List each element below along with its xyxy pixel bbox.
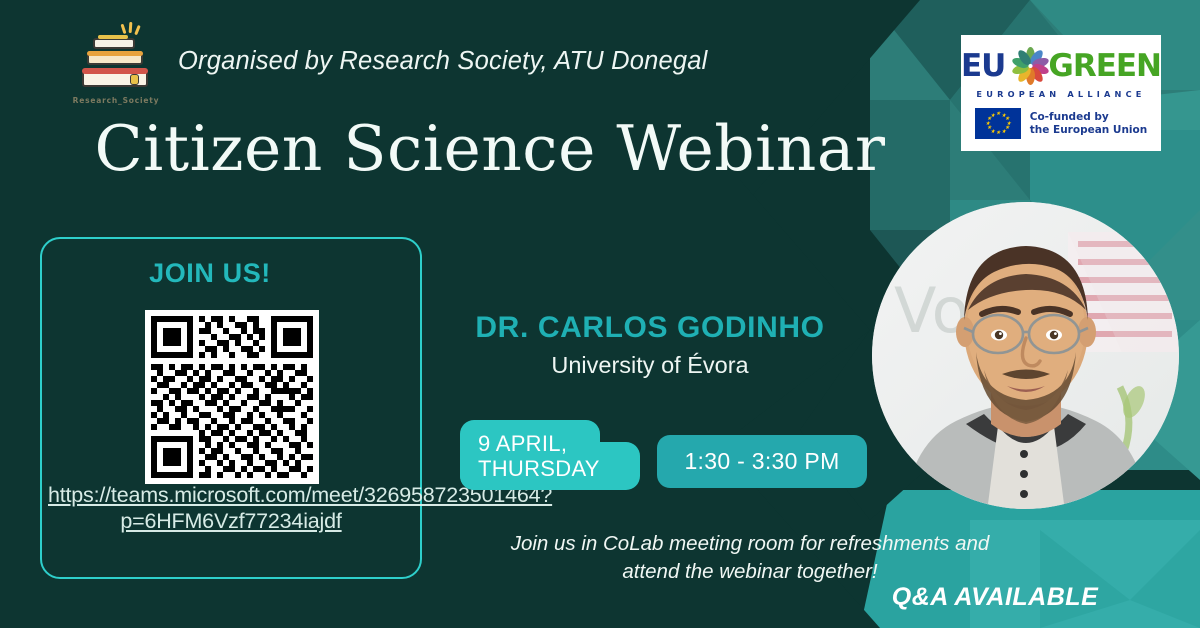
- footer-note-line1: Join us in CoLab meeting room for refres…: [511, 532, 990, 555]
- qa-available-label: Q&A AVAILABLE: [830, 583, 1160, 612]
- portrait-illustration: Vo: [872, 202, 1179, 509]
- header: Research_Society Organised by Research S…: [70, 22, 708, 114]
- eu-flag-icon: ★ ★ ★ ★ ★ ★ ★ ★ ★ ★ ★ ★: [975, 108, 1021, 139]
- footer-note: Join us in CoLab meeting room for refres…: [430, 530, 1070, 586]
- eu-green-logo: EU GREEN EUROPEAN ALLIANCE ★ ★ ★ ★: [961, 35, 1161, 151]
- co-funded-text: Co-funded by the European Union: [1030, 111, 1147, 136]
- page-title: Citizen Science Webinar: [0, 112, 980, 185]
- footer-note-line2: attend the webinar together!: [622, 560, 877, 583]
- leaf-flower-icon: [1007, 44, 1046, 88]
- logo-caption: Research_Society: [70, 96, 162, 105]
- co-funded-line1: Co-funded by: [1030, 111, 1109, 123]
- eu-text: EU: [961, 48, 1005, 84]
- date-line-2: THURSDAY: [478, 456, 600, 481]
- date-badge: 9 APRIL, THURSDAY: [460, 420, 640, 490]
- co-funded-block: ★ ★ ★ ★ ★ ★ ★ ★ ★ ★ ★ ★ Co-funded by the…: [961, 108, 1161, 139]
- webinar-poster: Research_Society Organised by Research S…: [0, 0, 1200, 628]
- eu-green-wordmark: EU GREEN: [961, 35, 1161, 91]
- time-badge-text: 1:30 - 3:30 PM: [684, 448, 839, 475]
- meeting-url-link[interactable]: https://teams.microsoft.com/meet/3269587…: [48, 482, 414, 534]
- date-line-1: 9 APRIL,: [478, 431, 567, 456]
- co-funded-line2: the European Union: [1030, 124, 1147, 136]
- research-society-logo-icon: Research_Society: [70, 22, 162, 114]
- qr-code[interactable]: [145, 310, 319, 484]
- date-badge-text: 9 APRIL, THURSDAY: [478, 431, 648, 481]
- speaker-name: DR. CARLOS GODINHO: [440, 311, 860, 345]
- speaker-portrait-avatar: Vo: [872, 202, 1179, 509]
- european-alliance-text: EUROPEAN ALLIANCE: [961, 89, 1161, 99]
- green-text: GREEN: [1048, 48, 1161, 84]
- join-us-heading: JOIN US!: [0, 258, 420, 289]
- speaker-organisation: University of Évora: [440, 352, 860, 379]
- organiser-text: Organised by Research Society, ATU Doneg…: [178, 47, 708, 76]
- time-badge: 1:30 - 3:30 PM: [657, 435, 867, 488]
- qr-code-svg: [145, 310, 319, 484]
